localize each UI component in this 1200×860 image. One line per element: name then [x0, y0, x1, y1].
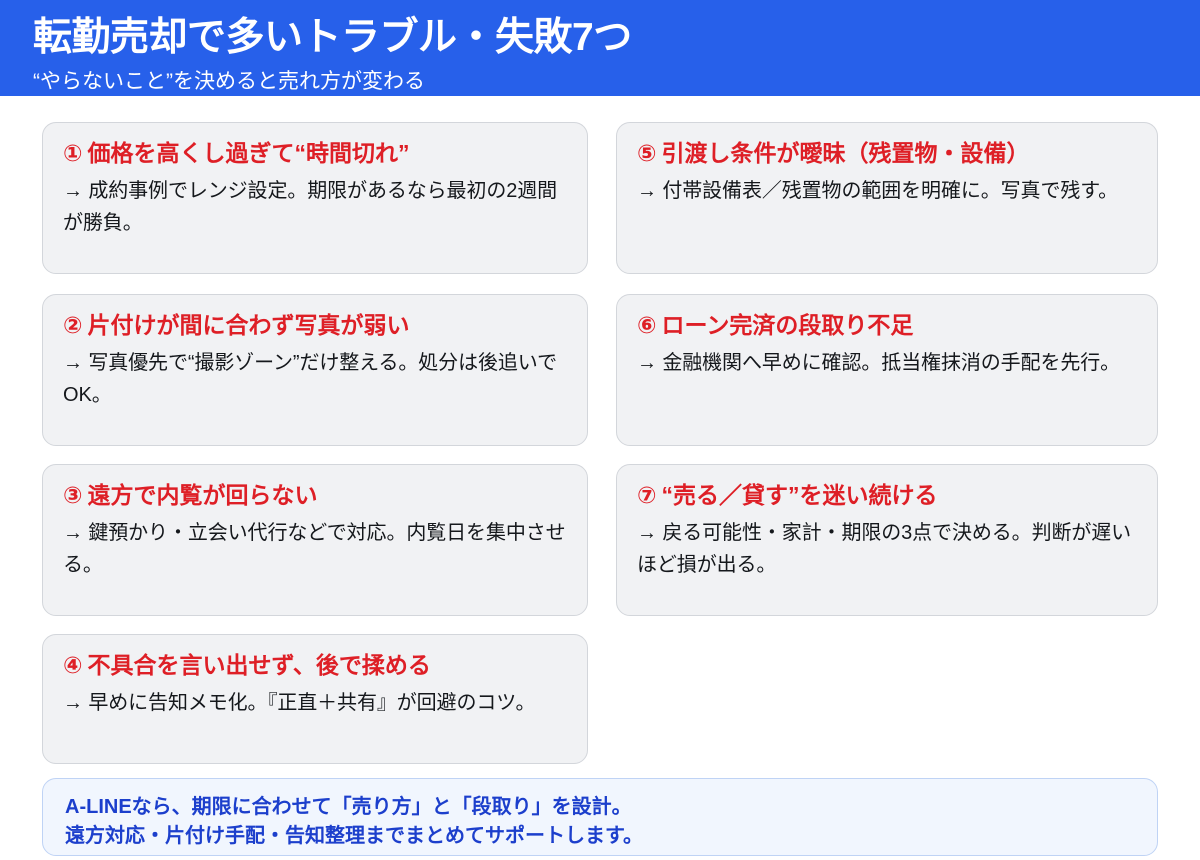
card-heading: ③ 遠方で内覧が回らない — [63, 481, 567, 511]
trouble-card-3: ③ 遠方で内覧が回らない → 鍵預かり・立会い代行などで対応。内覧日を集中させる… — [42, 464, 588, 616]
page-title: 転勤売却で多いトラブル・失敗7つ — [33, 16, 632, 60]
card-title: “売る／貸す”を迷い続ける — [661, 481, 1137, 511]
trouble-card-6: ⑥ ローン完済の段取り不足 → 金融機関へ早めに確認。抵当権抹消の手配を先行。 — [616, 294, 1158, 446]
card-heading: ⑤ 引渡し条件が曖昧（残置物・設備） — [637, 139, 1137, 169]
footer-cta-banner: A-LINEなら、期限に合わせて「売り方」と「段取り」を設計。 遠方対応・片付け… — [42, 778, 1158, 856]
card-number-badge: ④ — [63, 651, 82, 681]
trouble-card-2: ② 片付けが間に合わず写真が弱い → 写真優先で“撮影ゾーン”だけ整える。処分は… — [42, 294, 588, 446]
card-body: → 金融機関へ早めに確認。抵当権抹消の手配を先行。 — [637, 347, 1137, 379]
footer-line-1: A-LINEなら、期限に合わせて「売り方」と「段取り」を設計。 — [65, 793, 1135, 822]
card-body: → 早めに告知メモ化。『正直＋共有』が回避のコツ。 — [63, 687, 567, 719]
card-body: → 成約事例でレンジ設定。期限があるなら最初の2週間が勝負。 — [63, 175, 567, 240]
card-heading: ① 価格を高くし過ぎて“時間切れ” — [63, 139, 567, 169]
card-title: 価格を高くし過ぎて“時間切れ” — [87, 139, 567, 169]
card-number-badge: ⑤ — [637, 139, 656, 169]
card-number-badge: ② — [63, 311, 82, 341]
card-heading: ④ 不具合を言い出せず、後で揉める — [63, 651, 567, 681]
card-heading: ② 片付けが間に合わず写真が弱い — [63, 311, 567, 341]
trouble-card-1: ① 価格を高くし過ぎて“時間切れ” → 成約事例でレンジ設定。期限があるなら最初… — [42, 122, 588, 274]
footer-line-2: 遠方対応・片付け手配・告知整理までまとめてサポートします。 — [65, 822, 1135, 851]
card-title: 引渡し条件が曖昧（残置物・設備） — [661, 139, 1137, 169]
card-number-badge: ③ — [63, 481, 82, 511]
card-number-badge: ⑦ — [637, 481, 656, 511]
card-heading: ⑦ “売る／貸す”を迷い続ける — [637, 481, 1137, 511]
card-body: → 付帯設備表／残置物の範囲を明確に。写真で残す。 — [637, 175, 1137, 207]
card-number-badge: ⑥ — [637, 311, 656, 341]
header-band: 転勤売却で多いトラブル・失敗7つ “やらないこと”を決めると売れ方が変わる — [0, 0, 1200, 96]
cards-area: ① 価格を高くし過ぎて“時間切れ” → 成約事例でレンジ設定。期限があるなら最初… — [0, 96, 1200, 778]
card-title: 遠方で内覧が回らない — [87, 481, 567, 511]
card-heading: ⑥ ローン完済の段取り不足 — [637, 311, 1137, 341]
card-body: → 写真優先で“撮影ゾーン”だけ整える。処分は後追いでOK。 — [63, 347, 567, 412]
card-body: → 戻る可能性・家計・期限の3点で決める。判断が遅いほど損が出る。 — [637, 517, 1137, 582]
page-subtitle: “やらないこと”を決めると売れ方が変わる — [33, 69, 425, 95]
trouble-card-5: ⑤ 引渡し条件が曖昧（残置物・設備） → 付帯設備表／残置物の範囲を明確に。写真… — [616, 122, 1158, 274]
card-title: 片付けが間に合わず写真が弱い — [87, 311, 567, 341]
trouble-card-4: ④ 不具合を言い出せず、後で揉める → 早めに告知メモ化。『正直＋共有』が回避の… — [42, 634, 588, 764]
trouble-card-7: ⑦ “売る／貸す”を迷い続ける → 戻る可能性・家計・期限の3点で決める。判断が… — [616, 464, 1158, 616]
card-number-badge: ① — [63, 139, 82, 169]
card-title: ローン完済の段取り不足 — [661, 311, 1137, 341]
card-body: → 鍵預かり・立会い代行などで対応。内覧日を集中させる。 — [63, 517, 567, 582]
card-title: 不具合を言い出せず、後で揉める — [87, 651, 567, 681]
